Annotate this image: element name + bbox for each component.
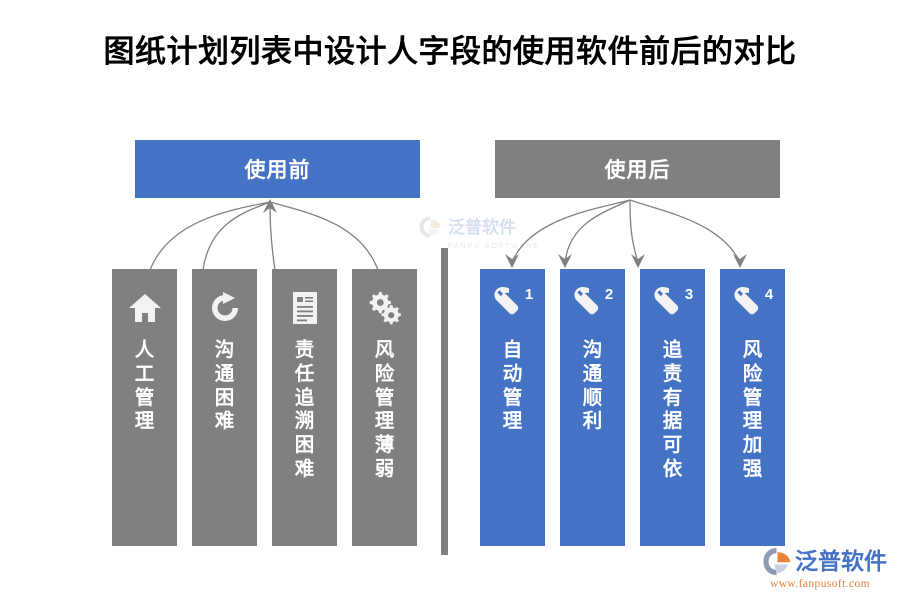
card-after-3-number: 3: [685, 287, 693, 302]
arrowhead-down-icon-4: [733, 254, 747, 268]
card-before-1[interactable]: 人工管理: [112, 269, 177, 546]
brand-name-cn: 泛普软件: [795, 550, 887, 573]
card-after-3-label: 追责有据可依: [660, 339, 686, 482]
center-divider: [441, 248, 448, 555]
card-before-4[interactable]: 风险管理薄弱: [352, 269, 417, 546]
wrench-icon: 1: [492, 285, 533, 331]
card-after-4[interactable]: 4 风险管理加强: [720, 269, 785, 546]
arrowhead-down-icon-3: [631, 254, 645, 268]
arrowhead-down-icon-1: [505, 254, 519, 268]
brand-url: www.fanpusoft.com: [770, 578, 894, 590]
panel-header-after: 使用后: [495, 140, 780, 198]
arrowhead-down-icon-2: [558, 254, 572, 268]
refresh-icon: [208, 285, 242, 331]
card-after-2-label: 沟通顺利: [580, 339, 606, 434]
document-icon: [291, 285, 319, 331]
home-icon: [127, 285, 163, 331]
wrench-icon: 4: [732, 285, 773, 331]
card-before-2-label: 沟通困难: [212, 339, 238, 434]
card-before-3-label: 责任追溯困难: [292, 339, 318, 482]
card-before-4-label: 风险管理薄弱: [372, 339, 398, 482]
brand-logo: 泛普软件 www.fanpusoft.com: [762, 546, 894, 592]
watermark-logo-icon: [418, 214, 444, 240]
card-before-3[interactable]: 责任追溯困难: [272, 269, 337, 546]
page-title: 图纸计划列表中设计人字段的使用软件前后的对比: [0, 26, 900, 71]
watermark-name-en: FANPU SOFTWARE: [448, 241, 548, 250]
panel-header-before: 使用前: [135, 140, 420, 198]
card-after-3[interactable]: 3 追责有据可依: [640, 269, 705, 546]
card-after-2[interactable]: 2 沟通顺利: [560, 269, 625, 546]
gears-icon: [366, 285, 404, 331]
connector-lines-before: [110, 196, 430, 274]
center-watermark: 泛普软件 FANPU SOFTWARE: [418, 214, 548, 258]
card-after-1[interactable]: 1 自动管理: [480, 269, 545, 546]
card-after-2-number: 2: [605, 287, 613, 302]
card-before-2[interactable]: 沟通困难: [192, 269, 257, 546]
card-after-4-number: 4: [765, 287, 773, 302]
card-after-4-label: 风险管理加强: [740, 339, 766, 482]
watermark-name-cn: 泛普软件: [448, 219, 516, 236]
card-before-1-label: 人工管理: [132, 339, 158, 434]
brand-logo-icon: [762, 546, 793, 577]
wrench-icon: 3: [652, 285, 693, 331]
arrowhead-up-icon: [263, 199, 277, 213]
card-after-1-label: 自动管理: [500, 339, 526, 434]
connector-lines-after: [470, 196, 790, 274]
panel-header-before-label: 使用前: [245, 154, 311, 184]
slide-canvas: 图纸计划列表中设计人字段的使用软件前后的对比 泛普软件 FANPU SOFTWA…: [0, 0, 900, 600]
card-after-1-number: 1: [525, 287, 533, 302]
card-column-after: 1 自动管理 2 沟通顺利 3 追责有据可依: [480, 269, 788, 546]
panel-header-after-label: 使用后: [605, 154, 671, 184]
card-column-before: 人工管理 沟通困难: [112, 269, 420, 546]
wrench-icon: 2: [572, 285, 613, 331]
